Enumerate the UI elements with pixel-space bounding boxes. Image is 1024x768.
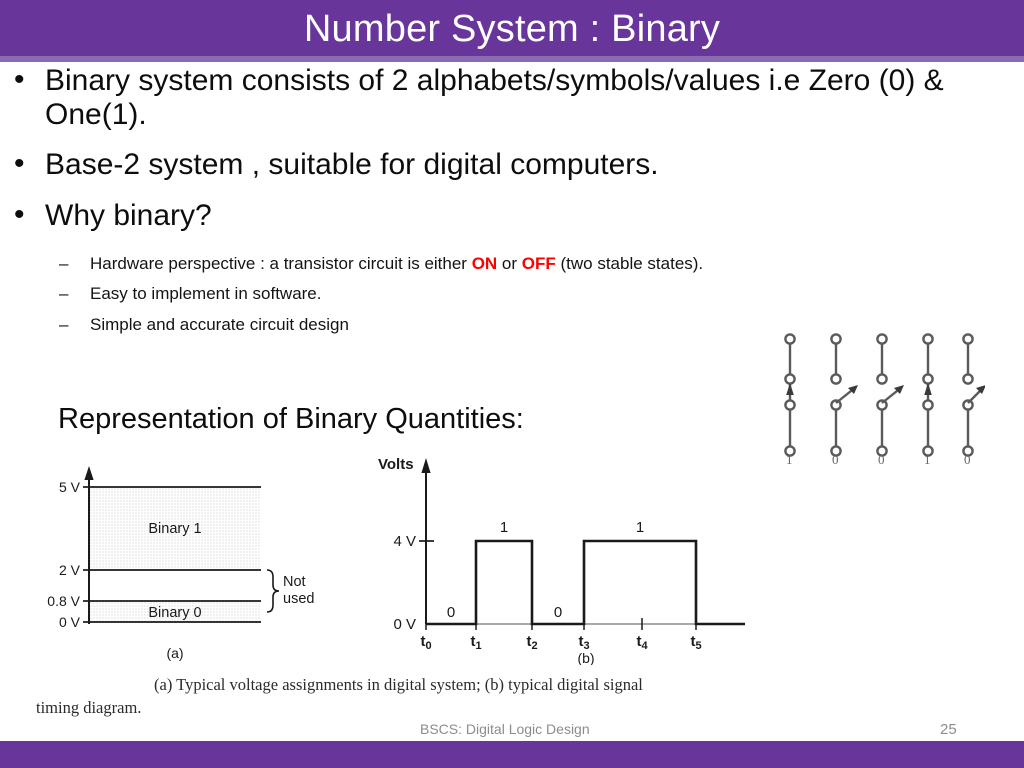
- switch-3-open: [877, 334, 904, 455]
- ytick-4v: 4 V: [393, 533, 416, 550]
- footer-course-label: BSCS: Digital Logic Design: [420, 721, 590, 737]
- sub-bullet-item-2: – Easy to implement in software.: [0, 284, 1024, 304]
- ylabel-volts: Volts: [378, 456, 414, 473]
- xtick-t0: t0: [420, 633, 431, 652]
- figure-caption-line2: timing diagram.: [36, 698, 141, 717]
- data-label-1b: 1: [636, 519, 644, 536]
- switch-1-closed: [785, 334, 794, 455]
- xtick-t2: t2: [526, 633, 537, 652]
- switch-label-1: 1: [786, 452, 793, 468]
- switch-2-open: [831, 334, 858, 455]
- ytick-5v: 5 V: [59, 479, 81, 495]
- footer-page-number: 25: [940, 721, 957, 738]
- switch-label-4: 1: [924, 452, 931, 468]
- figure-caption-line1: (a) Typical voltage assignments in digit…: [154, 675, 643, 694]
- slide: Number System : Binary • Binary system c…: [0, 0, 1024, 768]
- xtick-t1: t1: [470, 633, 481, 652]
- footer-band: [0, 741, 1024, 768]
- xtick-t4: t4: [636, 633, 648, 652]
- data-label-0a: 0: [447, 604, 455, 621]
- signal-waveform: [426, 541, 745, 624]
- ytick-2v: 2 V: [59, 562, 81, 578]
- off-highlight: OFF: [522, 254, 556, 273]
- bullet-marker: •: [14, 147, 25, 181]
- data-label-0b: 0: [554, 604, 562, 621]
- section-heading: Representation of Binary Quantities:: [58, 403, 524, 436]
- sub-bullet-text-2: Easy to implement in software.: [90, 284, 321, 303]
- ytick-0v: 0 V: [393, 616, 416, 633]
- title-accent-strip: [0, 56, 1024, 62]
- bullet-marker: •: [14, 63, 25, 97]
- band-label-not-used-2: used: [283, 591, 314, 607]
- bullet-text-1: Binary system consists of 2 alphabets/sy…: [45, 64, 944, 131]
- switch-5-open: [963, 334, 985, 455]
- data-label-1a: 1: [500, 519, 508, 536]
- sub-bullet-marker: –: [59, 254, 68, 274]
- switch-label-2: 0: [832, 452, 839, 468]
- band-label-not-used-1: Not: [283, 574, 306, 590]
- ytick-0v: 0 V: [59, 614, 81, 630]
- figure-b-timing-diagram: Volts 0 V 4 V 0 1 0 1 t0 t1 t2: [360, 450, 750, 665]
- bullet-text-2: Base-2 system , suitable for digital com…: [45, 148, 659, 181]
- figure-caption: (a) Typical voltage assignments in digit…: [36, 674, 796, 720]
- bullet-text-3: Why binary?: [45, 199, 212, 232]
- switch-state-labels: 1 0 0 1 0: [770, 452, 985, 472]
- switch-label-3: 0: [878, 452, 885, 468]
- page-title: Number System : Binary: [0, 2, 1024, 56]
- sub-bullet-text-3: Simple and accurate circuit design: [90, 315, 349, 334]
- band-label-binary-0: Binary 0: [148, 605, 201, 621]
- band-label-binary-1: Binary 1: [148, 521, 201, 537]
- bullet-item-3: • Why binary?: [0, 199, 1024, 233]
- figure-a-voltage-assignments: 5 V 2 V 0.8 V 0 V Binary 1 Binary 0 Not …: [30, 455, 360, 665]
- sub-bullet-text-1c: (two stable states).: [556, 254, 703, 273]
- figure-a-sublabel: (a): [166, 645, 183, 661]
- on-highlight: ON: [472, 254, 498, 273]
- sub-bullet-item-3: – Simple and accurate circuit design: [0, 315, 1024, 335]
- figure-b-sublabel: (b): [577, 650, 594, 665]
- switch-4-closed: [923, 334, 932, 455]
- ytick-08v: 0.8 V: [47, 593, 80, 609]
- bullet-item-2: • Base-2 system , suitable for digital c…: [0, 148, 1024, 182]
- bullet-list: • Binary system consists of 2 alphabets/…: [0, 64, 1024, 346]
- sub-bullet-text-1a: Hardware perspective : a transistor circ…: [90, 254, 472, 273]
- sub-bullet-marker: –: [59, 315, 68, 335]
- sub-bullet-marker: –: [59, 284, 68, 304]
- switch-label-5: 0: [964, 452, 971, 468]
- bullet-marker: •: [14, 198, 25, 232]
- sub-bullet-item-1: – Hardware perspective : a transistor ci…: [0, 254, 1024, 274]
- xtick-t5: t5: [690, 633, 701, 652]
- sub-bullet-text-1b: or: [497, 254, 522, 273]
- bullet-item-1: • Binary system consists of 2 alphabets/…: [0, 64, 975, 132]
